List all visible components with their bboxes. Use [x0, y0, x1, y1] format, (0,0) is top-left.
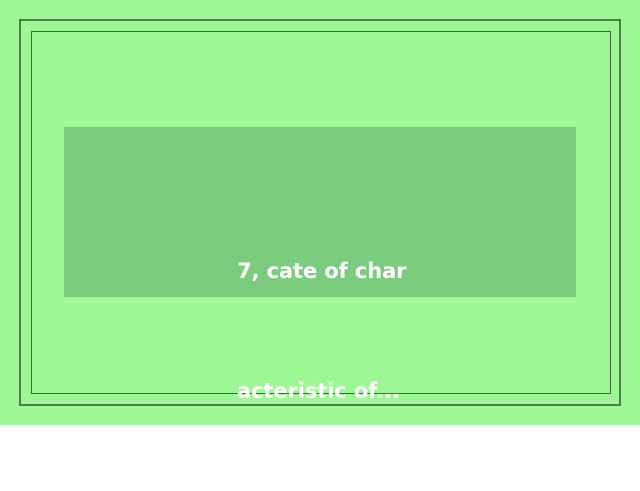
content-panel: 7, cate of char acteristic of...: [64, 127, 576, 297]
slide-canvas: 7, cate of char acteristic of...: [0, 0, 640, 425]
panel-text-line-1: 7, cate of char: [237, 251, 557, 291]
panel-text-line-2: acteristic of...: [237, 371, 557, 411]
panel-text-block: 7, cate of char acteristic of...: [237, 171, 557, 491]
